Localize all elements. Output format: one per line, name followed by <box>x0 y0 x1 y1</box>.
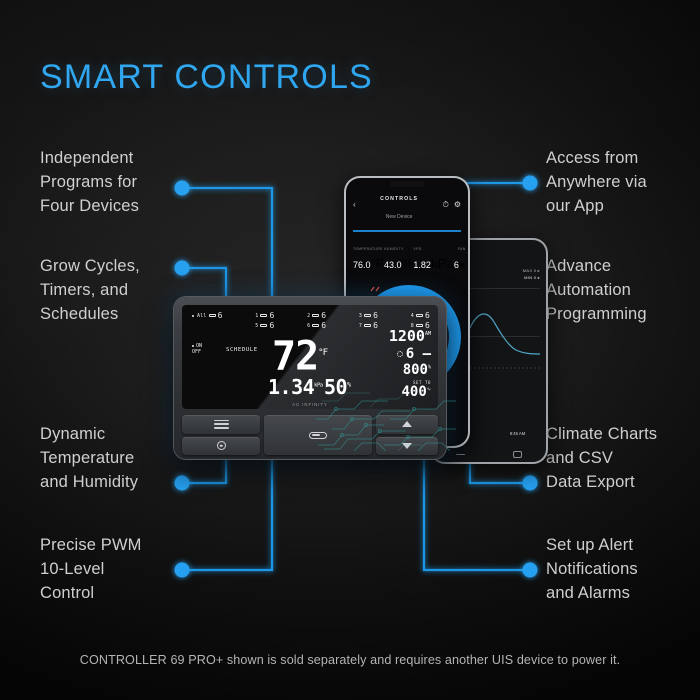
port-4-label: 4 <box>411 313 414 319</box>
stat-humidity-unit: % <box>402 256 414 271</box>
clock-icon[interactable]: ⏱ <box>443 201 449 209</box>
footnote: CONTROLLER 69 PRO+ shown is sold separat… <box>0 653 700 667</box>
stat-humidity: HUMIDITY 43.0% <box>384 237 413 273</box>
port-2-label: 2 <box>307 313 310 319</box>
lcd-right-column: 1200AM 6 – 800% SET TO 400∿ <box>389 329 431 400</box>
up-button[interactable] <box>376 415 438 434</box>
stat-temperature-value: 76.0 <box>353 260 371 270</box>
stat-fan-label: FAN <box>458 247 466 251</box>
lcd-clock: 1200AM <box>389 329 431 345</box>
power-pill-icon <box>309 432 327 439</box>
legend-min: MIN 0 ▸ <box>523 275 540 280</box>
lcd-rpm: 800% <box>389 363 431 378</box>
port-row-2: 2 6 <box>307 312 326 319</box>
callout-label-dynamic-temperature: Dynamic Temperature and Humidity <box>40 423 138 495</box>
stat-temperature-unit: °F <box>371 256 384 271</box>
lcd-setto: 400∿ <box>389 385 431 400</box>
plug-icon <box>209 314 216 318</box>
mode-label: SCHEDULE <box>226 347 258 353</box>
callout-dot-left-1 <box>175 181 190 196</box>
port-group-1-5: 1 6 5 6 <box>255 312 274 329</box>
lcd-rpm-unit: % <box>428 365 431 371</box>
port-all-label: All <box>197 313 207 319</box>
lcd-clock-meridiem: AM <box>425 331 431 337</box>
stat-humidity-label: HUMIDITY <box>384 247 404 251</box>
lcd-temperature: 72°F <box>272 333 327 376</box>
port-row-7: 7 6 <box>359 322 378 329</box>
port-5-level: 6 <box>269 322 274 329</box>
chart-legend: MAX 0 ▸ MIN 0 ▸ <box>523 268 540 282</box>
uis-controller-device: All 6 1 6 5 6 <box>174 297 446 459</box>
nav-underline <box>353 230 461 232</box>
callout-dot-right-3 <box>523 476 538 491</box>
controller-lcd-screen: All 6 1 6 5 6 <box>182 305 438 409</box>
port-3-label: 3 <box>359 313 362 319</box>
callout-dot-left-3 <box>175 476 190 491</box>
settings-button[interactable] <box>182 437 260 456</box>
port-8-level: 6 <box>425 322 430 329</box>
port-row-3: 3 6 <box>359 312 378 319</box>
fan-icon <box>397 351 403 357</box>
port-row-5: 5 6 <box>255 322 274 329</box>
stat-temperature-label: TEMPERATURE <box>353 247 383 251</box>
callout-dot-right-1 <box>523 176 538 191</box>
port-7-label: 7 <box>359 323 362 329</box>
chevron-up-icon <box>402 421 412 427</box>
controller-button-bar <box>182 415 438 455</box>
callout-label-precise-pwm: Precise PWM 10-Level Control <box>40 534 142 606</box>
phone-nav-subtitle: New Device <box>386 214 413 220</box>
plug-icon <box>364 314 371 318</box>
controller-brand: AC INFINITY <box>182 402 438 407</box>
plug-icon <box>312 324 319 328</box>
power-button[interactable] <box>264 415 372 455</box>
phone-chart-tabbar[interactable] <box>432 451 546 458</box>
callout-dot-right-4 <box>523 563 538 578</box>
port-5-label: 5 <box>255 323 258 329</box>
lcd-vpd-value: 1.34 <box>268 375 314 399</box>
callout-label-advance-automation: Advance Automation Programming <box>546 255 647 327</box>
lcd-humidity-value: 50 <box>324 375 347 399</box>
port-1-label: 1 <box>255 313 258 319</box>
lcd-humidity-unit: % <box>347 380 350 388</box>
list-tab-icon[interactable] <box>456 454 465 455</box>
lcd-fan-level-value: 6 <box>406 346 414 362</box>
down-button[interactable] <box>376 437 438 456</box>
hamburger-icon <box>214 418 229 431</box>
lcd-fan-dash: – <box>423 346 431 362</box>
lcd-rpm-value: 800 <box>403 362 428 378</box>
port-row-1: 1 6 <box>255 312 274 319</box>
plug-icon <box>416 314 423 318</box>
onoff-dot <box>192 345 194 347</box>
lcd-temperature-value: 72 <box>272 333 318 379</box>
lcd-clock-value: 1200 <box>389 327 425 345</box>
port-2-level: 6 <box>321 312 326 319</box>
lcd-setto-unit: ∿ <box>427 387 431 393</box>
gear-icon <box>217 441 226 450</box>
callout-label-independent-programs: Independent Programs for Four Devices <box>40 147 139 219</box>
controller-right-buttons <box>376 415 438 455</box>
menu-button[interactable] <box>182 415 260 434</box>
port-group-all: All 6 <box>192 312 223 329</box>
port-active-dot <box>192 315 194 317</box>
phone-nav-title-block: CONTROLS New Device <box>356 187 443 223</box>
lcd-setto-value: 400 <box>402 384 427 400</box>
callout-label-climate-charts: Climate Charts and CSV Data Export <box>546 423 657 495</box>
stat-vpd-label: VPD <box>413 247 421 251</box>
legend-max: MAX 0 ▸ <box>523 268 540 273</box>
port-4-level: 6 <box>425 312 430 319</box>
lcd-humidity: 50% <box>324 375 351 399</box>
lcd-fan-level: 6 – <box>389 347 431 362</box>
callout-label-alert-notifications: Set up Alert Notifications and Alarms <box>546 534 638 606</box>
phone-stats-row: TEMPERATURE 76.0°F HUMIDITY 43.0% VPD 1.… <box>346 232 468 273</box>
gear-icon[interactable]: ⚙ <box>454 201 461 209</box>
onoff-indicator: ON OFF <box>192 343 202 356</box>
callout-dot-left-4 <box>175 563 190 578</box>
lcd-vpd-unit: kPa <box>314 382 322 388</box>
callout-dot-left-2 <box>175 261 190 276</box>
stat-vpd: VPD 1.82kPa <box>413 237 454 273</box>
stat-fan-unit: ▸ <box>459 256 466 271</box>
phone-notch <box>390 181 424 187</box>
port-6-label: 6 <box>307 323 310 329</box>
plug-icon <box>312 314 319 318</box>
stat-humidity-value: 43.0 <box>384 260 402 270</box>
chart-tab-icon[interactable] <box>513 451 522 458</box>
plug-icon <box>260 324 267 328</box>
port-1-level: 6 <box>269 312 274 319</box>
stat-fan: FAN 6▸ <box>454 237 466 273</box>
port-row-4: 4 6 <box>411 312 430 319</box>
plug-icon <box>260 314 267 318</box>
stat-vpd-value: 1.82 <box>413 260 431 270</box>
stat-temperature: TEMPERATURE 76.0°F <box>353 237 384 273</box>
port-3-level: 6 <box>373 312 378 319</box>
lcd-temperature-unit: °F <box>318 348 327 358</box>
port-row-6: 6 6 <box>307 322 326 329</box>
controller-left-buttons <box>182 415 260 455</box>
port-row-all: All 6 <box>192 312 223 319</box>
port-all-level: 6 <box>218 312 223 319</box>
plug-icon <box>364 324 371 328</box>
chevron-down-icon <box>402 443 412 449</box>
chart-time-2: 8:45 AM <box>510 431 525 436</box>
lcd-vpd: 1.34kPa <box>268 375 323 399</box>
port-group-2-6: 2 6 6 6 <box>307 312 326 329</box>
callout-label-grow-cycles: Grow Cycles, Timers, and Schedules <box>40 255 140 327</box>
port-7-level: 6 <box>373 322 378 329</box>
stat-vpd-unit: kPa <box>431 256 454 271</box>
callout-label-access-anywhere: Access from Anywhere via our App <box>546 147 647 219</box>
phone-nav-title: CONTROLS <box>380 196 418 202</box>
infographic-canvas: SMART CONTROLS <box>0 0 700 700</box>
port-group-3-7: 3 6 7 6 <box>359 312 378 329</box>
port-6-level: 6 <box>321 322 326 329</box>
